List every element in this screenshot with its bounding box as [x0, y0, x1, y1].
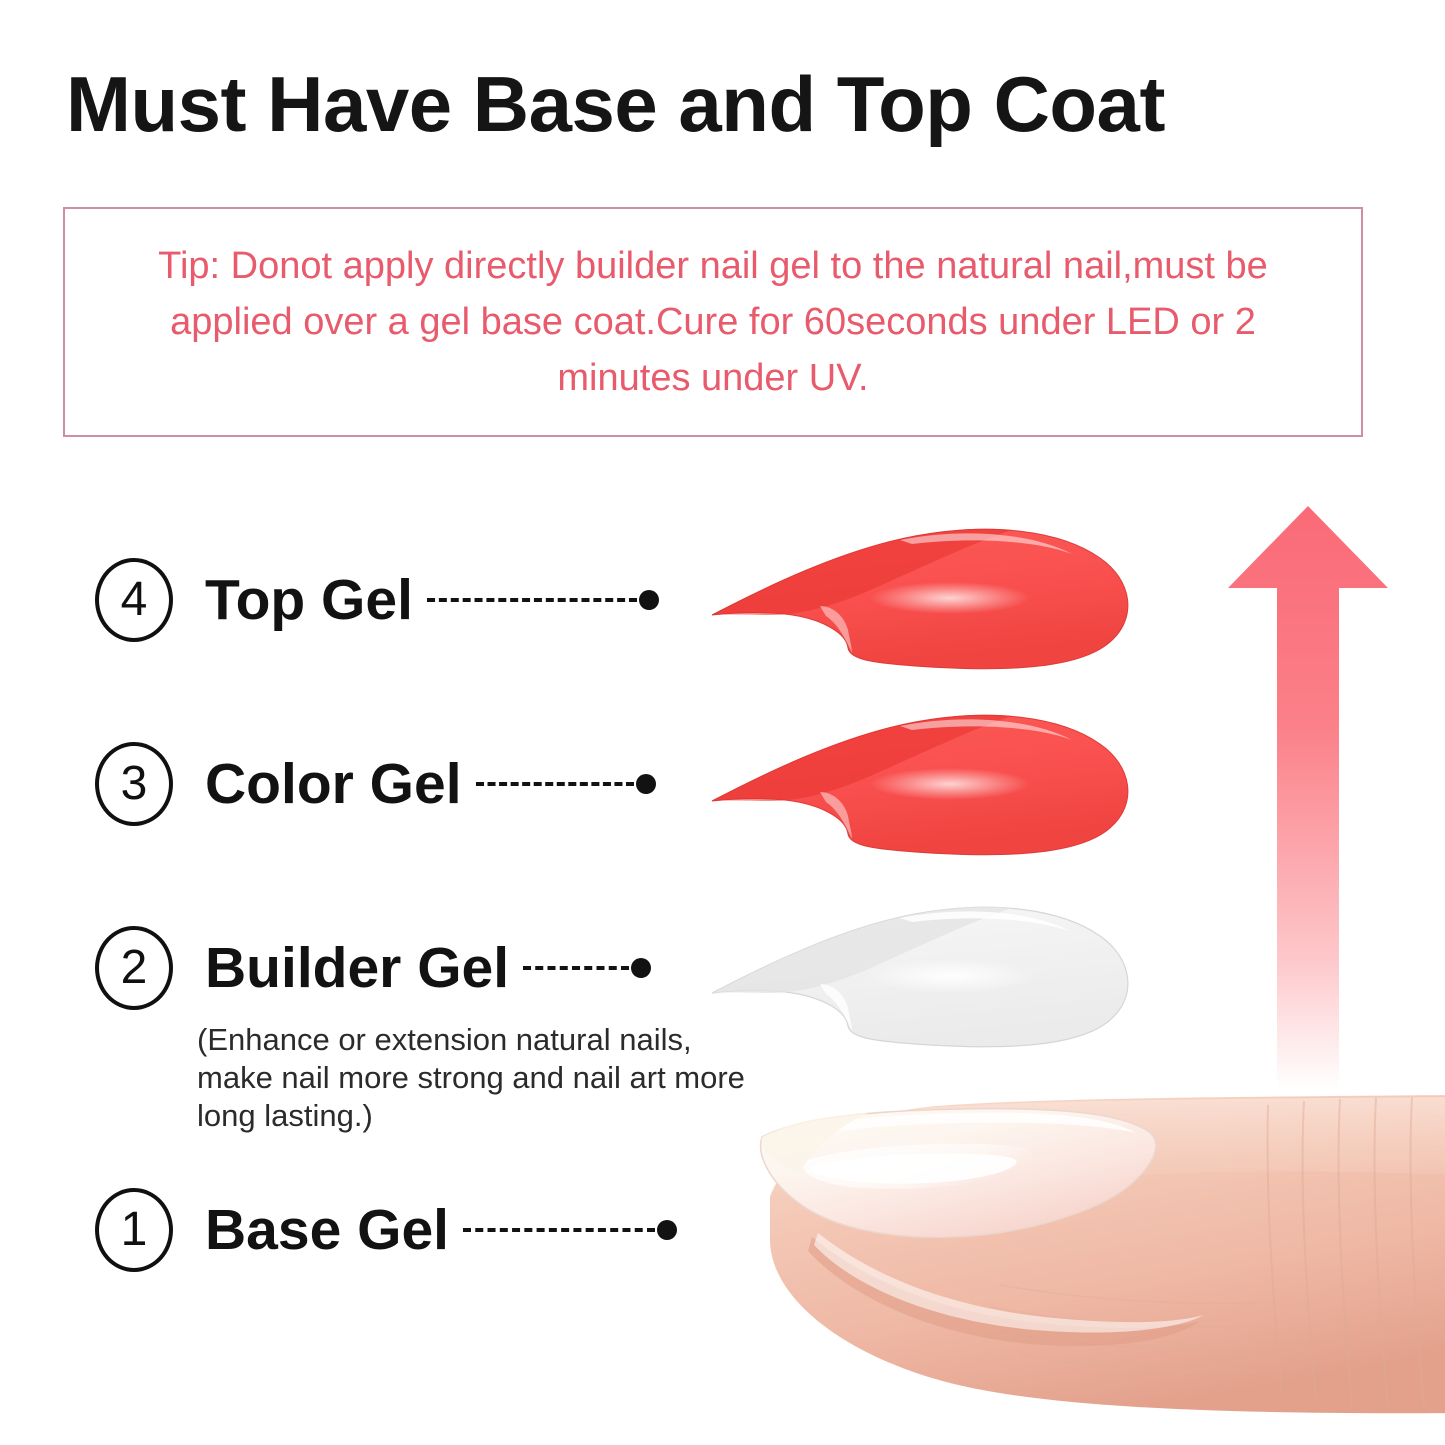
step-number-label: 3	[121, 760, 148, 808]
color-gel-swatch-icon	[700, 706, 1145, 871]
leader-dot-icon	[636, 774, 656, 794]
dashed-line-icon	[476, 782, 634, 786]
leader-dot-icon	[639, 590, 659, 610]
leader-line-color-gel	[476, 779, 656, 789]
leader-dot-icon	[657, 1220, 677, 1240]
step-row-builder-gel: 2 Builder Gel	[95, 926, 651, 1010]
step-row-base-gel: 1 Base Gel	[95, 1188, 677, 1272]
leader-line-base-gel	[463, 1225, 677, 1235]
step-number-circle-1: 1	[95, 1188, 173, 1272]
step-number-circle-4: 4	[95, 558, 173, 642]
step-row-top-gel: 4 Top Gel	[95, 558, 659, 642]
builder-gel-note: (Enhance or extension natural nails, mak…	[197, 1021, 757, 1135]
infographic-page: Must Have Base and Top Coat Tip: Donot a…	[0, 0, 1445, 1445]
leader-dot-icon	[631, 958, 651, 978]
leader-line-builder-gel	[523, 963, 651, 973]
tip-callout-text: Tip: Donot apply directly builder nail g…	[65, 238, 1361, 406]
dashed-line-icon	[523, 966, 629, 970]
dashed-line-icon	[427, 598, 637, 602]
step-label-base-gel: Base Gel	[205, 1199, 449, 1261]
fingertip-with-natural-nail-photo	[700, 1085, 1445, 1445]
upward-progress-arrow-icon	[1222, 500, 1394, 1140]
step-number-label: 1	[121, 1206, 148, 1254]
step-number-label: 4	[121, 576, 148, 624]
page-title: Must Have Base and Top Coat	[66, 58, 1386, 150]
step-label-color-gel: Color Gel	[205, 753, 462, 815]
builder-gel-swatch-icon	[700, 898, 1145, 1063]
step-label-top-gel: Top Gel	[205, 569, 413, 631]
step-row-color-gel: 3 Color Gel	[95, 742, 656, 826]
step-label-builder-gel: Builder Gel	[205, 937, 509, 999]
step-number-label: 2	[121, 944, 148, 992]
dashed-line-icon	[463, 1228, 655, 1232]
leader-line-top-gel	[427, 595, 659, 605]
step-number-circle-3: 3	[95, 742, 173, 826]
tip-callout-box: Tip: Donot apply directly builder nail g…	[63, 207, 1363, 437]
top-gel-swatch-icon	[700, 520, 1145, 685]
step-number-circle-2: 2	[95, 926, 173, 1010]
